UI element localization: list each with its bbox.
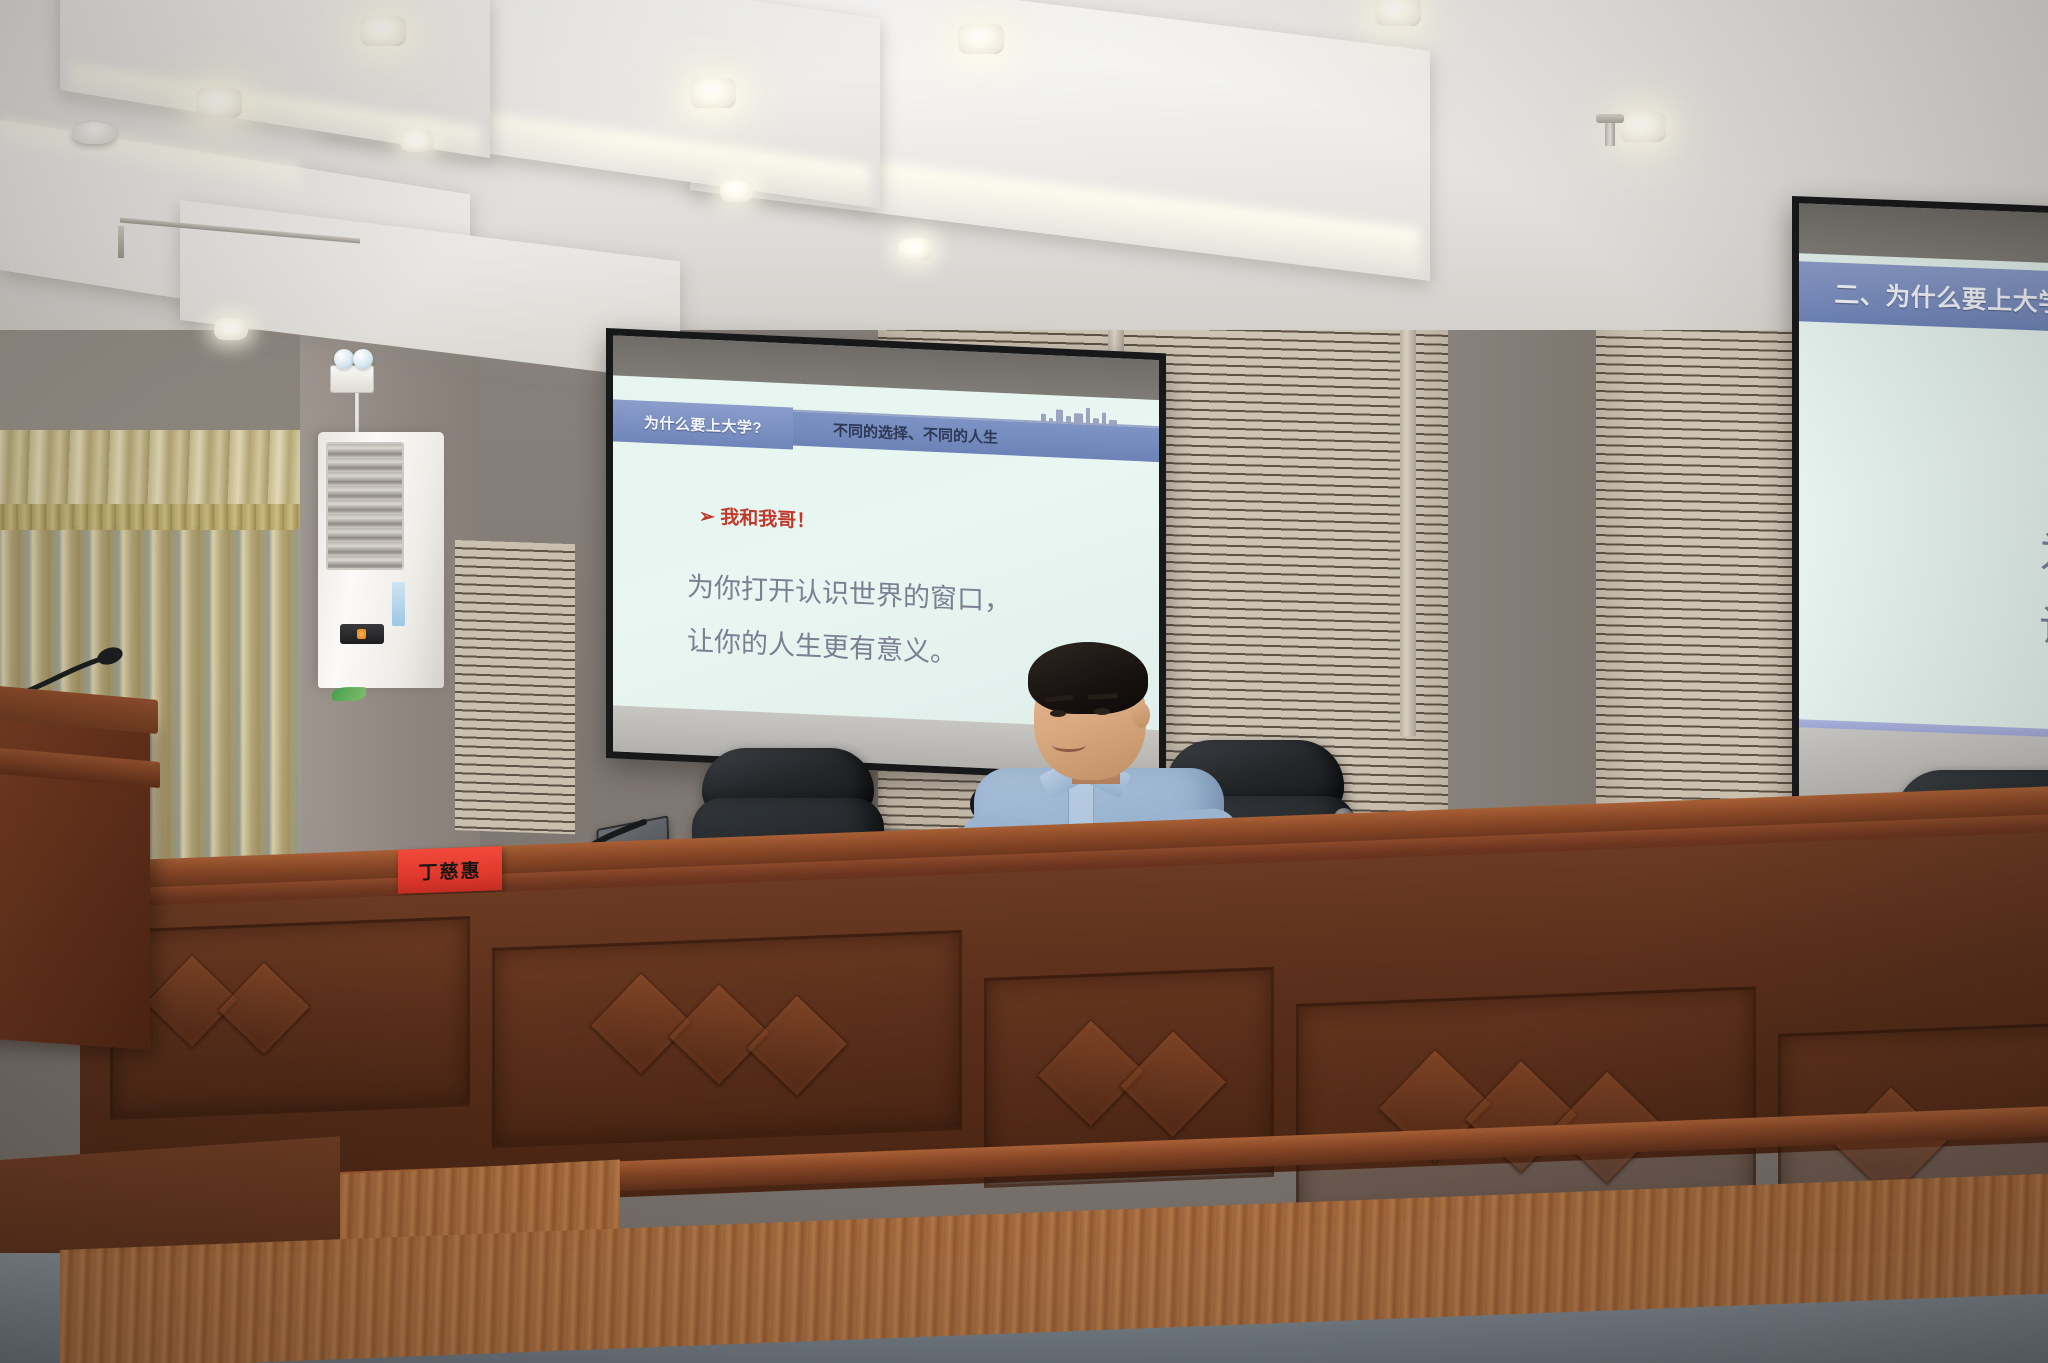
secondary-slide: 二、为什么要上大学 ➢ 为 让 <box>1799 253 2048 744</box>
emergency-bulb-right <box>353 349 373 369</box>
ceiling-downlight-7 <box>400 130 434 152</box>
speaker-mouth <box>1052 738 1086 752</box>
ac-grille-icon <box>326 442 404 570</box>
ceiling-downlight-8 <box>720 180 754 202</box>
ceiling-downlight-1 <box>360 16 406 46</box>
ceiling-downlight-5 <box>690 78 736 108</box>
table-panel-1 <box>110 916 470 1120</box>
speaker-hair <box>1028 642 1148 714</box>
secondary-slide-tab: 二、为什么要上大学 <box>1799 261 2048 333</box>
nameplate-left: 丁慈惠 <box>398 846 502 894</box>
speaker-eye-right <box>1094 708 1110 715</box>
ceiling-downlight-3 <box>1375 0 1421 26</box>
ac-energy-label <box>392 582 405 626</box>
slide-body-line-1: 为你打开认识世界的窗口， <box>687 565 1011 619</box>
ceiling-rail-hook <box>118 226 124 258</box>
ceiling-downlight-4 <box>196 88 242 118</box>
speaker-ear <box>1132 702 1150 728</box>
secondary-slide-body-line-1: 为 <box>2039 518 2048 581</box>
emergency-bulb-left <box>334 349 354 369</box>
ceiling-downlight-2 <box>958 24 1004 54</box>
ceiling-downlight-9 <box>898 238 932 260</box>
ac-display-panel[interactable] <box>340 624 384 644</box>
ceiling-downlight-10 <box>214 318 248 340</box>
smoke-detector-icon <box>72 122 116 144</box>
air-conditioner-unit <box>318 432 444 688</box>
ac-energy-leaf-icon <box>332 687 366 701</box>
table-diamond-2a <box>590 972 692 1074</box>
secondary-screen-surface: 二、为什么要上大学 ➢ 为 让 <box>1799 203 2048 810</box>
table-panel-2 <box>492 930 962 1148</box>
secondary-slide-tab-label: 二、为什么要上大学 <box>1834 275 2048 320</box>
table-diamond-3b <box>1119 1030 1226 1137</box>
slide-tab-label: 为什么要上大学? <box>644 411 762 437</box>
table-diamond-1b <box>217 961 310 1054</box>
speaker-eye-left <box>1050 710 1066 717</box>
fire-sprinkler-icon <box>1605 120 1615 146</box>
bullet-text: 我和我哥！ <box>720 507 815 532</box>
slide-tab: 为什么要上大学? <box>613 399 793 449</box>
slide-body-line-2: 让你的人生更有意义。 <box>687 619 957 670</box>
table-diamond-3a <box>1037 1019 1144 1126</box>
conference-room-scene: 为什么要上大学? 不同的选择、不同的人生 ➢ 我和我哥！ 为你打开认识世界的窗口… <box>0 0 2048 1363</box>
emergency-light-unit <box>330 365 374 393</box>
table-diamond-2b <box>668 983 770 1085</box>
secondary-slide-body-line-2: 让 <box>2039 592 2048 655</box>
ceiling-downlight-6 <box>1620 112 1666 142</box>
slide-bullet: ➢ 我和我哥！ <box>699 501 815 533</box>
table-diamond-2c <box>746 994 848 1096</box>
bullet-marker-icon: ➢ <box>699 506 715 528</box>
secondary-projection-screen: 二、为什么要上大学 ➢ 为 让 <box>1792 196 2048 818</box>
curtain-fringe <box>0 504 300 530</box>
